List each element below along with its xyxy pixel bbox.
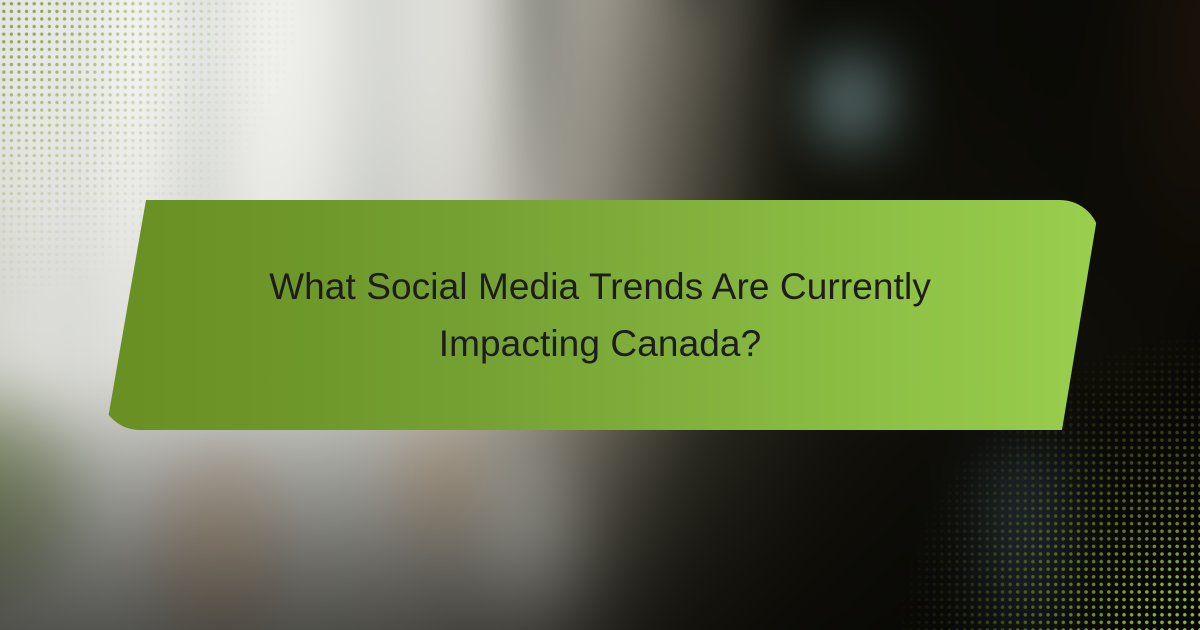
page-title: What Social Media Trends Are Currently I… [190, 258, 1010, 372]
title-card: What Social Media Trends Are Currently I… [100, 200, 1100, 430]
og-image-canvas: What Social Media Trends Are Currently I… [0, 0, 1200, 630]
